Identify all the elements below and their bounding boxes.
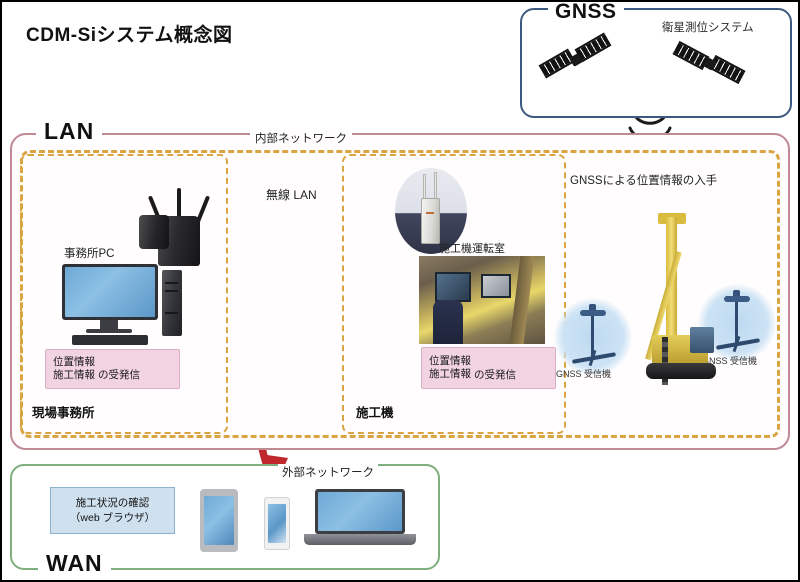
office-info-tail: の受発信 <box>98 367 140 384</box>
gnss-sublabel: 衛星測位システム <box>662 19 754 35</box>
site-office-zone-label: 現場事務所 <box>28 402 99 421</box>
satellite-icon <box>674 44 752 96</box>
gnss-receiver-label-left: GNSS 受信機 <box>556 367 611 380</box>
page-title: CDM-Siシステム概念図 <box>26 20 232 47</box>
machine-info-tail: の受発信 <box>474 367 516 384</box>
external-network-label: 外部ネットワーク <box>278 464 378 480</box>
gnss-receiver-icon <box>554 298 632 376</box>
satellite-icon <box>540 38 618 90</box>
lan-zone-label: LAN <box>36 118 102 145</box>
office-pc-label: 事務所PC <box>64 245 114 261</box>
laptop-icon <box>304 489 416 549</box>
browser-monitoring-badge: 施工状況の確認 （web ブラウザ） <box>50 487 175 534</box>
operator-cabin-label: 施工機運転室 <box>439 240 505 256</box>
diagram-canvas: CDM-Siシステム概念図 GNSS 衛星測位システム LAN 内部ネットワーク… <box>0 0 800 582</box>
wireless-lan-label: 無線 LAN <box>266 186 317 203</box>
browser-badge-line2: （web ブラウザ） <box>70 511 155 525</box>
drilling-rig-icon <box>632 217 724 385</box>
network-device-icon <box>139 215 169 249</box>
office-info-badge: 位置情報 施工情報 の受発信 <box>45 349 180 389</box>
gnss-zone-label: GNSS <box>548 0 624 24</box>
browser-badge-line1: 施工状況の確認 <box>76 496 150 510</box>
office-info-line1: 位置情報 <box>53 356 95 369</box>
tablet-icon <box>200 489 238 552</box>
internal-network-label: 内部ネットワーク <box>250 130 352 146</box>
construction-machine-zone-label: 施工機 <box>352 402 398 421</box>
desktop-computer-icon <box>62 264 182 346</box>
smartphone-icon <box>264 497 290 550</box>
office-info-line2: 施工情報 <box>53 369 95 382</box>
machine-info-line1: 位置情報 <box>429 355 471 368</box>
gnss-usage-label: GNSSによる位置情報の入手 <box>570 172 717 188</box>
machine-info-line2: 施工情報 <box>429 368 471 381</box>
wan-zone-label: WAN <box>38 550 111 577</box>
machine-info-badge: 位置情報 施工情報 の受発信 <box>421 347 556 389</box>
operator-cabin-photo-icon <box>419 256 545 344</box>
